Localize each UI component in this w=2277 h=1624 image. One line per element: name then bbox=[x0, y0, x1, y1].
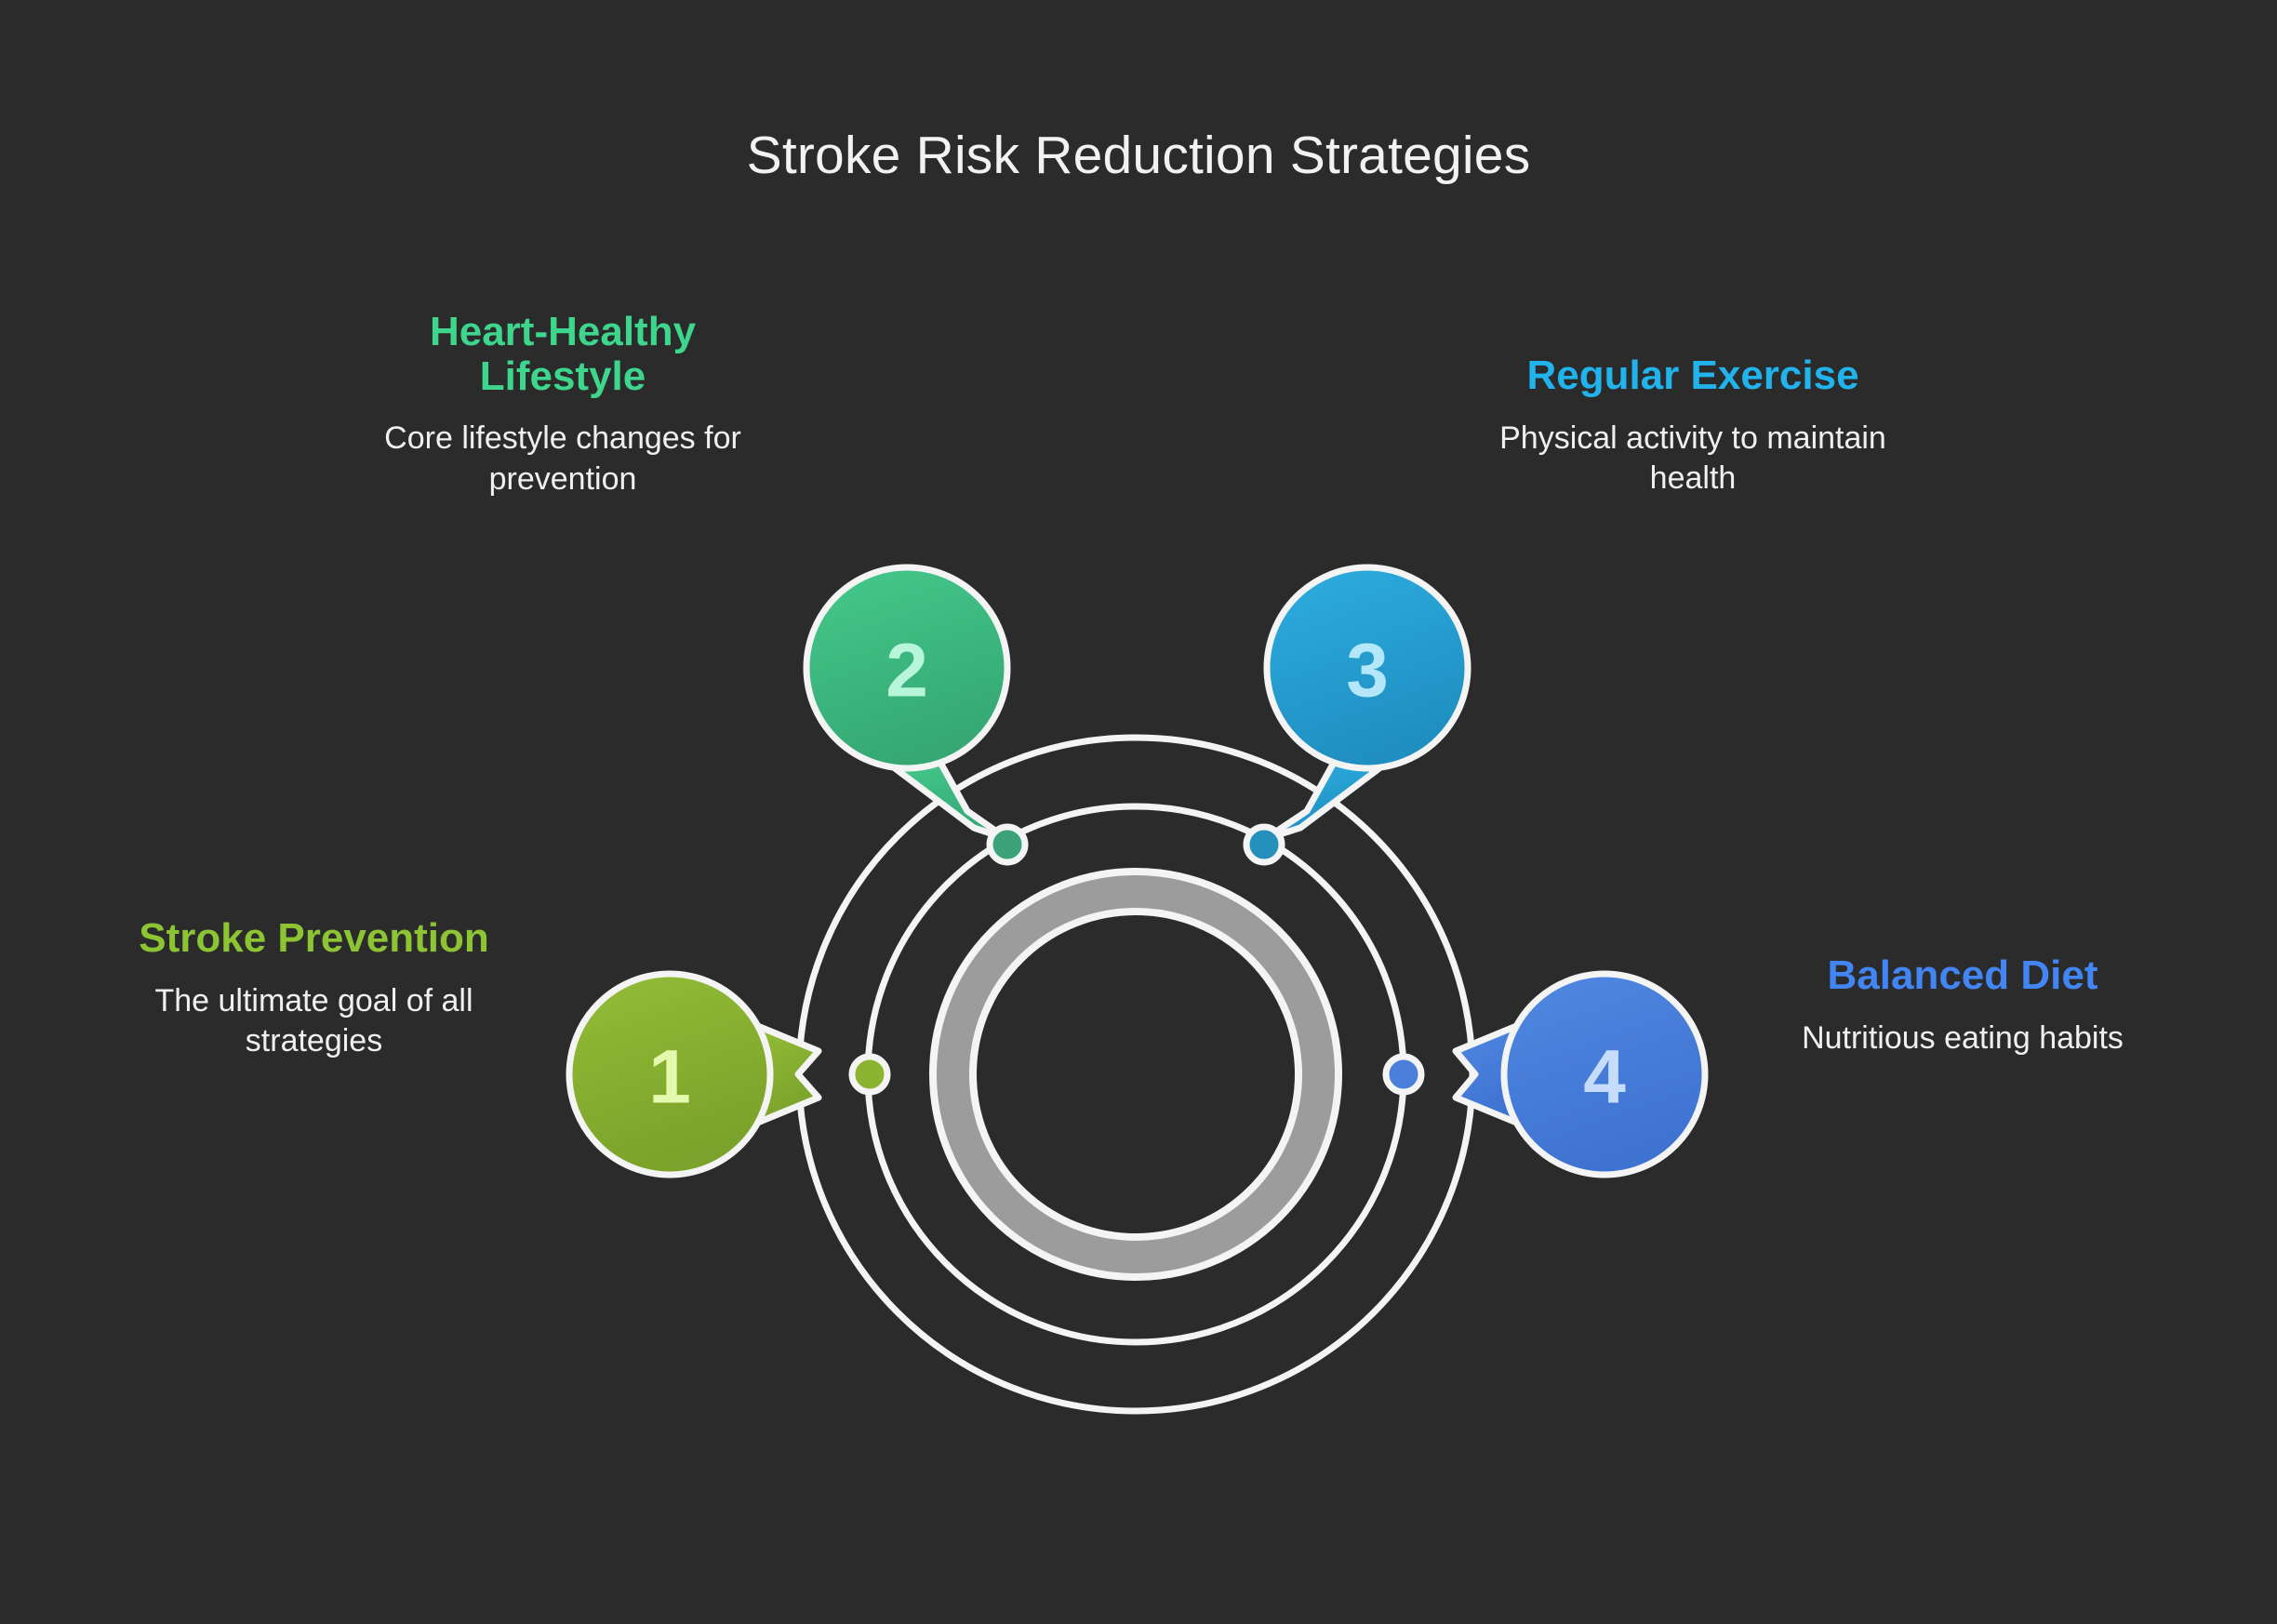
concentric-ring-diagram: 1 2 3 4 bbox=[0, 0, 2277, 1624]
inner-donut-band bbox=[953, 892, 1319, 1258]
bubble-number-4: 4 bbox=[1583, 1035, 1626, 1120]
inner-donut-outer-edge bbox=[933, 872, 1338, 1277]
inner-donut-inner-edge bbox=[973, 912, 1298, 1237]
outer-ring bbox=[799, 738, 1472, 1411]
bubble-number-2: 2 bbox=[885, 629, 928, 713]
callout-title-3: Regular Exercise bbox=[1498, 353, 1888, 398]
callout-label-1: Stroke Prevention The ultimate goal of a… bbox=[102, 916, 526, 1062]
bubble-number-1: 1 bbox=[648, 1035, 691, 1120]
callout-desc-3: Physical activity to maintain health bbox=[1498, 419, 1888, 499]
diagram-canvas: Stroke Risk Reduction Strategies bbox=[0, 0, 2277, 1624]
callout-title-2: Heart-Healthy Lifestyle bbox=[363, 310, 763, 398]
callout-desc-4: Nutritious eating habits bbox=[1758, 1018, 2167, 1059]
callout-bubble-4[interactable]: 4 bbox=[1456, 974, 1705, 1175]
callout-label-4: Balanced Diet Nutritious eating habits bbox=[1758, 953, 2167, 1058]
ring-dot-4[interactable] bbox=[1386, 1057, 1421, 1092]
callout-label-3: Regular Exercise Physical activity to ma… bbox=[1498, 353, 1888, 499]
ring-dot-3[interactable] bbox=[1246, 827, 1282, 862]
callout-title-1: Stroke Prevention bbox=[102, 916, 526, 961]
callout-desc-2: Core lifestyle changes for prevention bbox=[363, 419, 763, 499]
callout-title-4: Balanced Diet bbox=[1758, 953, 2167, 998]
callout-desc-1: The ultimate goal of all strategies bbox=[102, 981, 526, 1062]
callout-bubble-2[interactable]: 2 bbox=[806, 567, 1007, 839]
callout-bubble-3[interactable]: 3 bbox=[1265, 567, 1468, 839]
ring-dot-2[interactable] bbox=[990, 827, 1025, 862]
bubble-number-3: 3 bbox=[1346, 629, 1389, 713]
callout-bubble-1[interactable]: 1 bbox=[569, 974, 819, 1175]
ring-dot-1[interactable] bbox=[852, 1057, 887, 1092]
callout-label-2: Heart-Healthy Lifestyle Core lifestyle c… bbox=[363, 310, 763, 499]
